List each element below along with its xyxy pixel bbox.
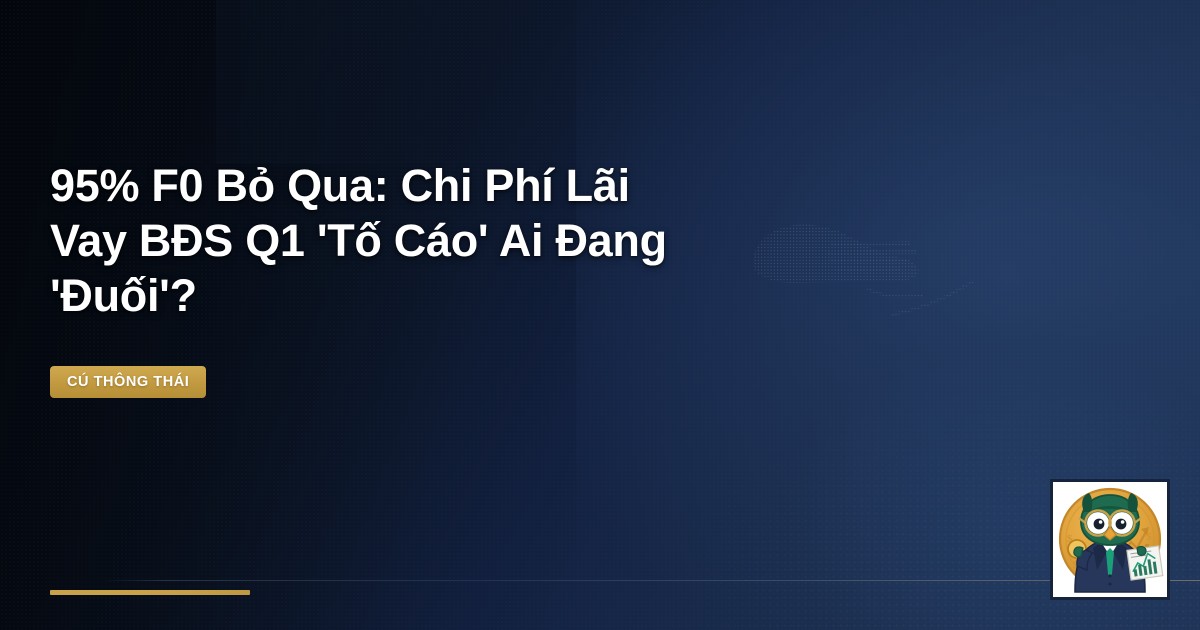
category-badge[interactable]: CÚ THÔNG THÁI xyxy=(50,366,206,398)
owl-mascot-icon: $ $ $ $ $ $ xyxy=(1053,482,1167,597)
footer-divider-line xyxy=(100,580,1200,581)
category-badge-label: CÚ THÔNG THÁI xyxy=(67,374,189,390)
brand-logo[interactable]: $ $ $ $ $ $ xyxy=(1050,479,1170,600)
social-share-card: 95% F0 Bỏ Qua: Chi Phí Lãi Vay BĐS Q1 'T… xyxy=(0,0,1200,630)
footer-accent-bar xyxy=(50,590,250,595)
page-title: 95% F0 Bỏ Qua: Chi Phí Lãi Vay BĐS Q1 'T… xyxy=(50,158,690,323)
